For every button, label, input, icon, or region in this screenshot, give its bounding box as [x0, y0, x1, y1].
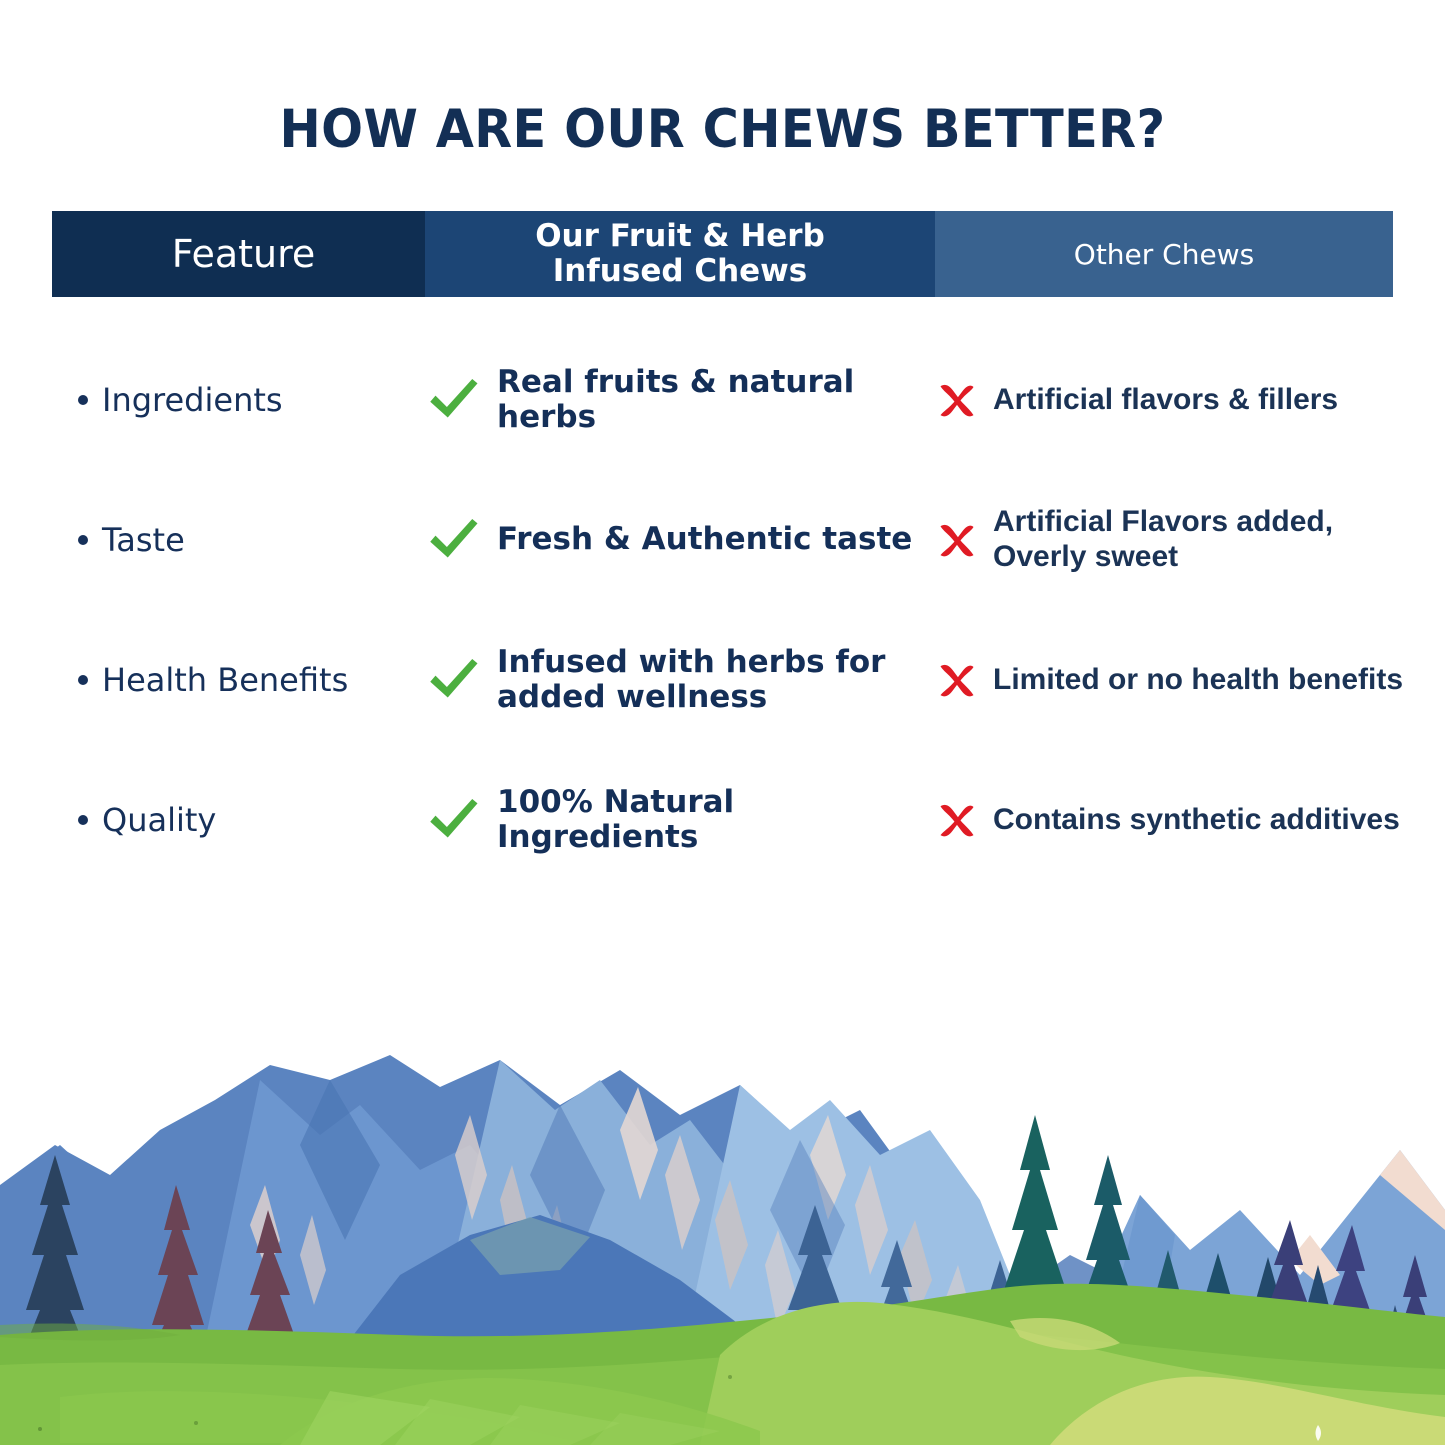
- feature-label: Taste: [102, 521, 185, 559]
- green-check-icon: [425, 652, 481, 708]
- green-check-icon: [425, 792, 481, 848]
- our-chews-cell: Real fruits & natural herbs: [425, 365, 935, 436]
- header-cell-our-chews: Our Fruit & Herb Infused Chews: [425, 211, 935, 297]
- bullet-icon: [78, 675, 88, 685]
- feature-label: Quality: [102, 801, 216, 839]
- table-row: Health Benefits Infused with herbs for a…: [0, 610, 1445, 750]
- comparison-table-body: Ingredients Real fruits & natural herbs …: [0, 330, 1445, 890]
- other-chews-cell: Limited or no health benefits: [935, 658, 1445, 702]
- feature-label: Ingredients: [102, 381, 283, 419]
- our-chews-text: Real fruits & natural herbs: [497, 365, 923, 436]
- header-other-chews-label: Other Chews: [1074, 238, 1254, 271]
- our-chews-cell: 100% Natural Ingredients: [425, 785, 935, 856]
- header-feature-label: Feature: [172, 232, 316, 276]
- mountain-landscape-illustration: [0, 1025, 1445, 1445]
- red-cross-icon: [935, 798, 979, 842]
- bullet-icon: [78, 815, 88, 825]
- red-cross-icon: [935, 378, 979, 422]
- other-chews-cell: Artificial flavors & fillers: [935, 378, 1445, 422]
- our-chews-text: Fresh & Authentic taste: [497, 522, 912, 557]
- our-chews-text: Infused with herbs for added wellness: [497, 645, 923, 716]
- page-title: HOW ARE OUR CHEWS BETTER?: [51, 99, 1395, 160]
- header-cell-feature: Feature: [52, 211, 425, 297]
- feature-label: Health Benefits: [102, 661, 348, 699]
- feature-cell: Quality: [0, 801, 425, 839]
- comparison-table-header: Feature Our Fruit & Herb Infused Chews O…: [52, 211, 1393, 297]
- green-check-icon: [425, 512, 481, 568]
- other-chews-text: Contains synthetic additives: [993, 803, 1400, 838]
- table-row: Quality 100% Natural Ingredients Contain…: [0, 750, 1445, 890]
- red-cross-icon: [935, 518, 979, 562]
- other-chews-text: Artificial flavors & fillers: [993, 383, 1338, 418]
- table-row: Taste Fresh & Authentic taste Artificial…: [0, 470, 1445, 610]
- our-chews-cell: Infused with herbs for added wellness: [425, 645, 935, 716]
- our-chews-text: 100% Natural Ingredients: [497, 785, 923, 856]
- other-chews-cell: Contains synthetic additives: [935, 798, 1445, 842]
- table-row: Ingredients Real fruits & natural herbs …: [0, 330, 1445, 470]
- our-chews-cell: Fresh & Authentic taste: [425, 512, 935, 568]
- other-chews-text: Limited or no health benefits: [993, 663, 1403, 698]
- landscape-svg: [0, 1025, 1445, 1445]
- bullet-icon: [78, 535, 88, 545]
- bullet-icon: [78, 395, 88, 405]
- header-cell-other-chews: Other Chews: [935, 211, 1393, 297]
- other-chews-text: Artificial Flavors added, Overly sweet: [993, 505, 1405, 575]
- feature-cell: Ingredients: [0, 381, 425, 419]
- comparison-infographic: HOW ARE OUR CHEWS BETTER? Feature Our Fr…: [0, 0, 1445, 1445]
- feature-cell: Taste: [0, 521, 425, 559]
- header-our-chews-line1: Our Fruit & Herb: [535, 219, 825, 254]
- other-chews-cell: Artificial Flavors added, Overly sweet: [935, 505, 1445, 575]
- green-check-icon: [425, 372, 481, 428]
- red-cross-icon: [935, 658, 979, 702]
- feature-cell: Health Benefits: [0, 661, 425, 699]
- header-our-chews-line2: Infused Chews: [535, 254, 825, 289]
